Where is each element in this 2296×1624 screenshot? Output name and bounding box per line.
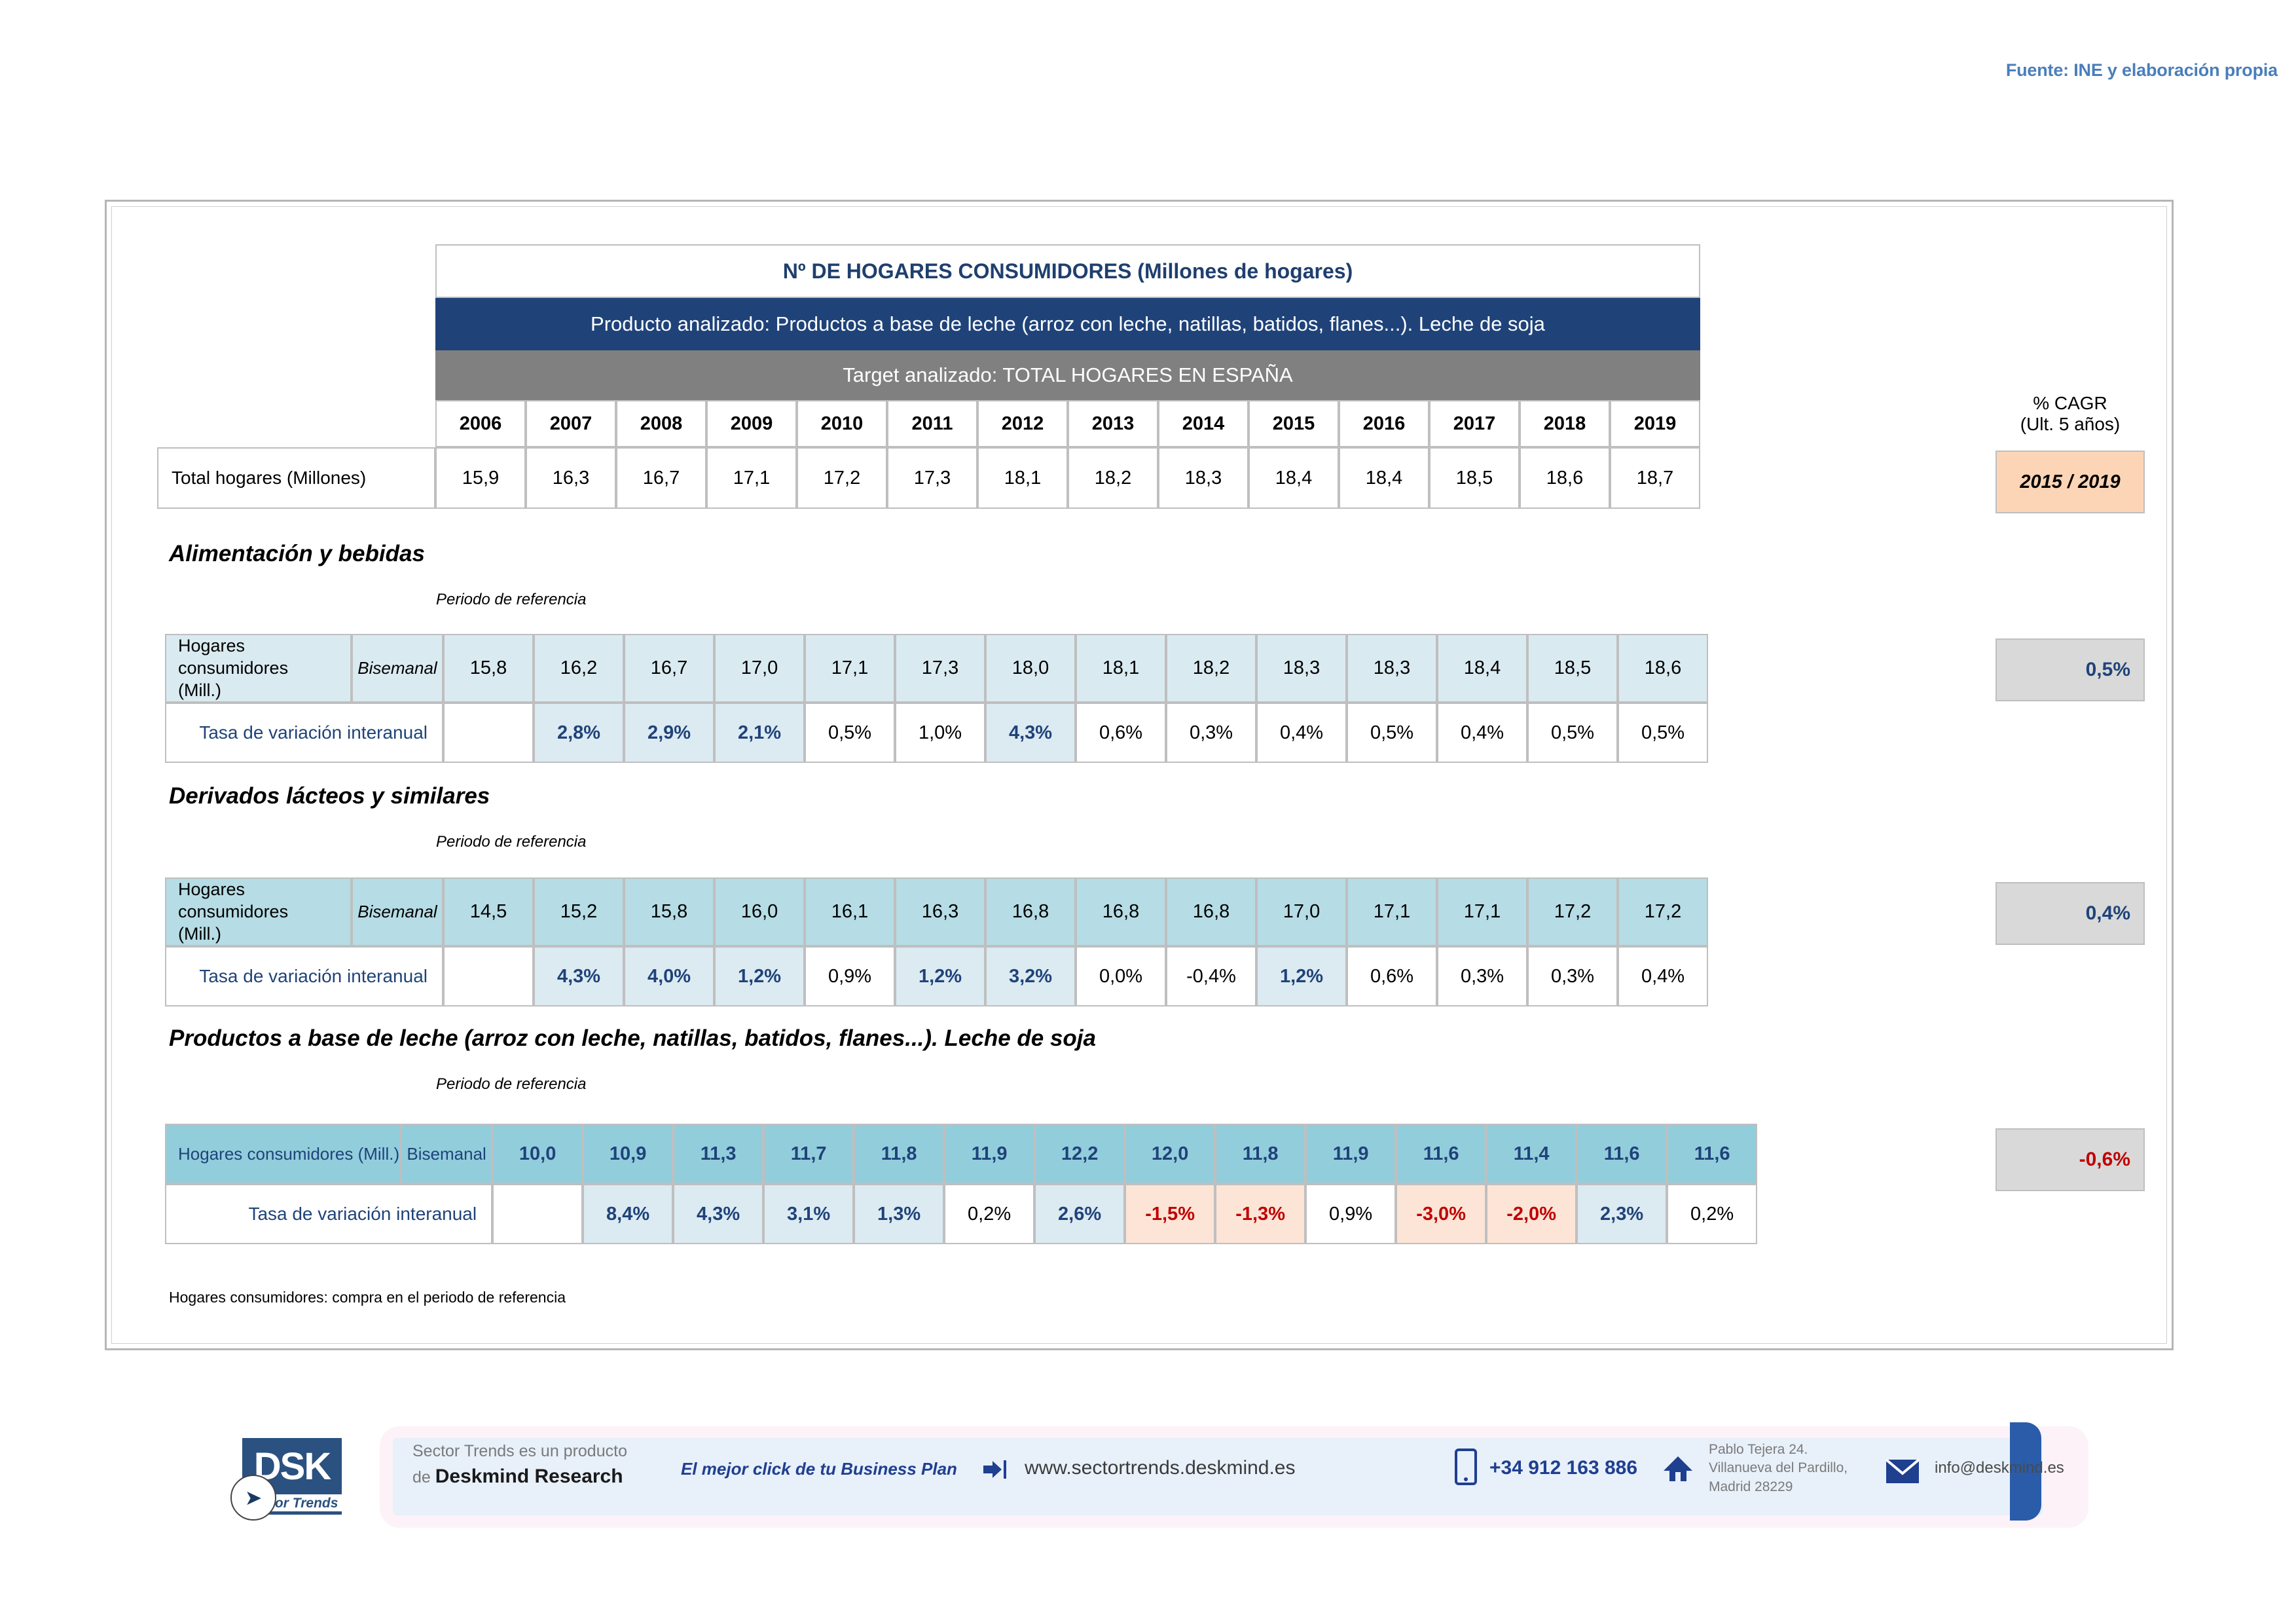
households-value: 11,6 xyxy=(1576,1124,1667,1184)
households-value: 18,2 xyxy=(1166,634,1256,703)
households-value: 11,8 xyxy=(854,1124,944,1184)
variation-value: 4,0% xyxy=(624,946,714,1006)
variation-value: 0,9% xyxy=(1305,1184,1396,1244)
variation-value xyxy=(443,946,534,1006)
row-label-line1: Hogares consumidores xyxy=(178,879,350,923)
households-value: 12,0 xyxy=(1125,1124,1215,1184)
total-households-value: 18,4 xyxy=(1339,447,1429,509)
year-header: 2015 xyxy=(1248,400,1339,447)
section-title: Alimentación y bebidas xyxy=(169,541,425,567)
households-value: 17,1 xyxy=(805,634,895,703)
total-households-value: 17,3 xyxy=(887,447,977,509)
variation-value: 2,1% xyxy=(714,703,805,763)
banner-website[interactable]: www.sectortrends.deskmind.es xyxy=(1025,1457,1296,1479)
year-header: 2009 xyxy=(706,400,797,447)
year-header: 2011 xyxy=(887,400,977,447)
variation-value: 0,9% xyxy=(805,946,895,1006)
households-value: 10,0 xyxy=(492,1124,583,1184)
source-note: Fuente: INE y elaboración propia xyxy=(2006,60,2278,81)
row-label-line2: (Mill.) xyxy=(178,923,350,946)
variation-value: 0,2% xyxy=(1667,1184,1757,1244)
banner-email: info@deskmind.es xyxy=(1935,1459,2064,1477)
variation-value: 3,2% xyxy=(985,946,1076,1006)
dsk-logo: DSK Sector Trends ➤ xyxy=(230,1438,342,1515)
year-header: 2012 xyxy=(977,400,1068,447)
section-title: Productos a base de leche (arroz con lec… xyxy=(169,1025,1096,1052)
total-households-value: 17,1 xyxy=(706,447,797,509)
variation-value: -1,5% xyxy=(1125,1184,1215,1244)
households-value: 11,6 xyxy=(1396,1124,1486,1184)
table-row: Tasa de variación interanual2,8%2,9%2,1%… xyxy=(165,703,1708,763)
year-header: 2014 xyxy=(1158,400,1248,447)
total-households-value: 18,4 xyxy=(1248,447,1339,509)
households-row-label: Hogares consumidores(Mill.) xyxy=(165,877,352,946)
variation-value: -3,0% xyxy=(1396,1184,1486,1244)
variation-value: 0,3% xyxy=(1527,946,1618,1006)
households-value: 16,8 xyxy=(1076,877,1166,946)
households-value: 12,2 xyxy=(1034,1124,1125,1184)
variation-value: 0,5% xyxy=(1347,703,1437,763)
footnote: Hogares consumidores: compra en el perio… xyxy=(169,1289,566,1306)
cagr-value: -0,6% xyxy=(1995,1128,2145,1191)
total-households-value: 16,7 xyxy=(616,447,706,509)
total-households-value: 15,9 xyxy=(435,447,526,509)
households-value: 18,4 xyxy=(1437,634,1527,703)
households-value: 11,7 xyxy=(763,1124,854,1184)
households-value: 11,6 xyxy=(1667,1124,1757,1184)
variation-value xyxy=(443,703,534,763)
header-table: Nº DE HOGARES CONSUMIDORES (Millones de … xyxy=(157,244,1700,509)
year-header: 2018 xyxy=(1520,400,1610,447)
variation-value: 2,9% xyxy=(624,703,714,763)
banner-line1: Sector Trends es un producto xyxy=(412,1442,627,1461)
variation-value: 2,3% xyxy=(1576,1184,1667,1244)
banner-line2: de Deskmind Research xyxy=(412,1466,623,1488)
variation-value: 2,6% xyxy=(1034,1184,1125,1244)
year-header: 2010 xyxy=(797,400,887,447)
frequency-cell: Bisemanal xyxy=(401,1124,492,1184)
period-reference-label: Periodo de referencia xyxy=(436,591,586,609)
variation-value: 8,4% xyxy=(583,1184,673,1244)
arrow-icon xyxy=(982,1459,1008,1480)
variation-value xyxy=(492,1184,583,1244)
row-label-line1: Hogares consumidores xyxy=(178,635,350,680)
households-value: 16,8 xyxy=(1166,877,1256,946)
header-title: Nº DE HOGARES CONSUMIDORES (Millones de … xyxy=(435,244,1700,298)
cagr-value: 0,5% xyxy=(1995,638,2145,701)
year-header: 2008 xyxy=(616,400,706,447)
row-label-line2: (Mill.) xyxy=(178,680,350,702)
home-icon xyxy=(1663,1455,1693,1483)
variation-value: 4,3% xyxy=(673,1184,763,1244)
data-block: Hogares consumidores(Mill.)Bisemanal14,5… xyxy=(165,877,1708,1006)
variation-value: 0,4% xyxy=(1256,703,1347,763)
year-header: 2019 xyxy=(1610,400,1700,447)
banner-address-line3: Madrid 28229 xyxy=(1709,1478,1848,1496)
data-table: Hogares consumidores (Mill.)Bisemanal10,… xyxy=(165,1124,1757,1244)
households-value: 16,3 xyxy=(895,877,985,946)
households-row-label: Hogares consumidores(Mill.) xyxy=(165,634,352,703)
variation-value: 0,6% xyxy=(1347,946,1437,1006)
year-header: 2016 xyxy=(1339,400,1429,447)
table-row: Hogares consumidores(Mill.)Bisemanal15,8… xyxy=(165,634,1708,703)
variation-value: 3,1% xyxy=(763,1184,854,1244)
cagr-period-badge: 2015 / 2019 xyxy=(1995,451,2145,513)
variation-value: 0,3% xyxy=(1437,946,1527,1006)
households-value: 17,2 xyxy=(1618,877,1708,946)
households-value: 18,3 xyxy=(1256,634,1347,703)
total-households-value: 18,7 xyxy=(1610,447,1700,509)
cagr-value: 0,4% xyxy=(1995,882,2145,945)
frequency-cell: Bisemanal xyxy=(352,634,443,703)
section-title: Derivados lácteos y similares xyxy=(169,783,490,809)
households-value: 11,9 xyxy=(1305,1124,1396,1184)
banner-address-line2: Villanueva del Pardillo, xyxy=(1709,1459,1848,1477)
total-households-value: 16,3 xyxy=(526,447,616,509)
variation-value: 1,0% xyxy=(895,703,985,763)
banner-phone: +34 912 163 886 xyxy=(1489,1457,1637,1479)
cagr-column-header: % CAGR (Ult. 5 años) xyxy=(1995,393,2145,435)
header-target-band: Target analizado: TOTAL HOGARES EN ESPAÑ… xyxy=(435,350,1700,400)
households-value: 17,1 xyxy=(1347,877,1437,946)
banner-address-line1: Pablo Tejera 24. xyxy=(1709,1441,1848,1459)
table-row: Hogares consumidores (Mill.)Bisemanal10,… xyxy=(165,1124,1757,1184)
households-value: 15,8 xyxy=(624,877,714,946)
data-block: Hogares consumidores(Mill.)Bisemanal15,8… xyxy=(165,634,1708,763)
variation-value: 1,2% xyxy=(714,946,805,1006)
table-row: Tasa de variación interanual8,4%4,3%3,1%… xyxy=(165,1184,1757,1244)
households-value: 17,1 xyxy=(1437,877,1527,946)
variation-value: 0,3% xyxy=(1166,703,1256,763)
data-block: Hogares consumidores (Mill.)Bisemanal10,… xyxy=(165,1124,1757,1244)
cagr-label-line2: (Ult. 5 años) xyxy=(1995,414,2145,435)
variation-value: 0,6% xyxy=(1076,703,1166,763)
total-households-value: 18,3 xyxy=(1158,447,1248,509)
households-value: 11,9 xyxy=(944,1124,1034,1184)
variation-value: 1,3% xyxy=(854,1184,944,1244)
rocket-icon: ➤ xyxy=(230,1475,276,1521)
households-value: 18,5 xyxy=(1527,634,1618,703)
variation-value: 2,8% xyxy=(534,703,624,763)
households-value: 18,3 xyxy=(1347,634,1437,703)
households-value: 17,0 xyxy=(1256,877,1347,946)
variation-row-label: Tasa de variación interanual xyxy=(165,1184,492,1244)
frequency-cell: Bisemanal xyxy=(352,877,443,946)
header-spacer xyxy=(157,400,435,447)
households-value: 16,7 xyxy=(624,634,714,703)
variation-value: 0,2% xyxy=(944,1184,1034,1244)
variation-value: 0,5% xyxy=(1527,703,1618,763)
total-households-value: 18,6 xyxy=(1520,447,1610,509)
header-spacer xyxy=(157,298,435,350)
variation-row-label: Tasa de variación interanual xyxy=(165,703,443,763)
table-row: Hogares consumidores(Mill.)Bisemanal14,5… xyxy=(165,877,1708,946)
households-value: 17,0 xyxy=(714,634,805,703)
variation-value: 0,0% xyxy=(1076,946,1166,1006)
data-table: Hogares consumidores(Mill.)Bisemanal14,5… xyxy=(165,877,1708,1006)
total-households-value: 17,2 xyxy=(797,447,887,509)
variation-value: -0,4% xyxy=(1166,946,1256,1006)
households-value: 16,1 xyxy=(805,877,895,946)
variation-value: 1,2% xyxy=(895,946,985,1006)
households-value: 17,2 xyxy=(1527,877,1618,946)
header-spacer xyxy=(157,350,435,400)
year-header: 2013 xyxy=(1068,400,1158,447)
variation-value: 4,3% xyxy=(534,946,624,1006)
variation-value: 1,2% xyxy=(1256,946,1347,1006)
households-value: 18,6 xyxy=(1618,634,1708,703)
total-households-label: Total hogares (Millones) xyxy=(157,447,435,509)
households-value: 16,0 xyxy=(714,877,805,946)
households-value: 17,3 xyxy=(895,634,985,703)
header-table-wrapper: Nº DE HOGARES CONSUMIDORES (Millones de … xyxy=(157,244,1700,509)
households-value: 11,8 xyxy=(1215,1124,1305,1184)
banner-address: Pablo Tejera 24. Villanueva del Pardillo… xyxy=(1709,1441,1848,1496)
variation-row-label: Tasa de variación interanual xyxy=(165,946,443,1006)
phone-icon xyxy=(1455,1449,1477,1485)
year-header: 2017 xyxy=(1429,400,1520,447)
households-value: 15,2 xyxy=(534,877,624,946)
period-reference-label: Periodo de referencia xyxy=(436,833,586,851)
cagr-label-line1: % CAGR xyxy=(1995,393,2145,414)
households-value: 10,9 xyxy=(583,1124,673,1184)
banner-line2-pre: de xyxy=(412,1468,435,1486)
banner-claim: El mejor click de tu Business Plan xyxy=(681,1459,957,1479)
total-households-value: 18,1 xyxy=(977,447,1068,509)
households-value: 18,0 xyxy=(985,634,1076,703)
variation-value: 0,5% xyxy=(1618,703,1708,763)
households-value: 11,3 xyxy=(673,1124,763,1184)
households-value: 15,8 xyxy=(443,634,534,703)
total-households-value: 18,5 xyxy=(1429,447,1520,509)
households-value: 16,2 xyxy=(534,634,624,703)
data-table: Hogares consumidores(Mill.)Bisemanal15,8… xyxy=(165,634,1708,763)
variation-value: 0,4% xyxy=(1618,946,1708,1006)
variation-value: -2,0% xyxy=(1486,1184,1576,1244)
banner-line2-bold: Deskmind Research xyxy=(435,1466,623,1487)
households-value: 11,4 xyxy=(1486,1124,1576,1184)
households-value: 18,1 xyxy=(1076,634,1166,703)
header-product-band: Producto analizado: Productos a base de … xyxy=(435,298,1700,350)
households-value: 14,5 xyxy=(443,877,534,946)
variation-value: 0,5% xyxy=(805,703,895,763)
total-households-value: 18,2 xyxy=(1068,447,1158,509)
header-spacer xyxy=(157,244,435,298)
households-value: 16,8 xyxy=(985,877,1076,946)
variation-value: -1,3% xyxy=(1215,1184,1305,1244)
period-reference-label: Periodo de referencia xyxy=(436,1075,586,1094)
households-row-label: Hogares consumidores (Mill.) xyxy=(165,1124,401,1184)
variation-value: 4,3% xyxy=(985,703,1076,763)
mail-icon xyxy=(1886,1459,1920,1484)
year-header: 2006 xyxy=(435,400,526,447)
year-header: 2007 xyxy=(526,400,616,447)
variation-value: 0,4% xyxy=(1437,703,1527,763)
table-row: Tasa de variación interanual4,3%4,0%1,2%… xyxy=(165,946,1708,1006)
